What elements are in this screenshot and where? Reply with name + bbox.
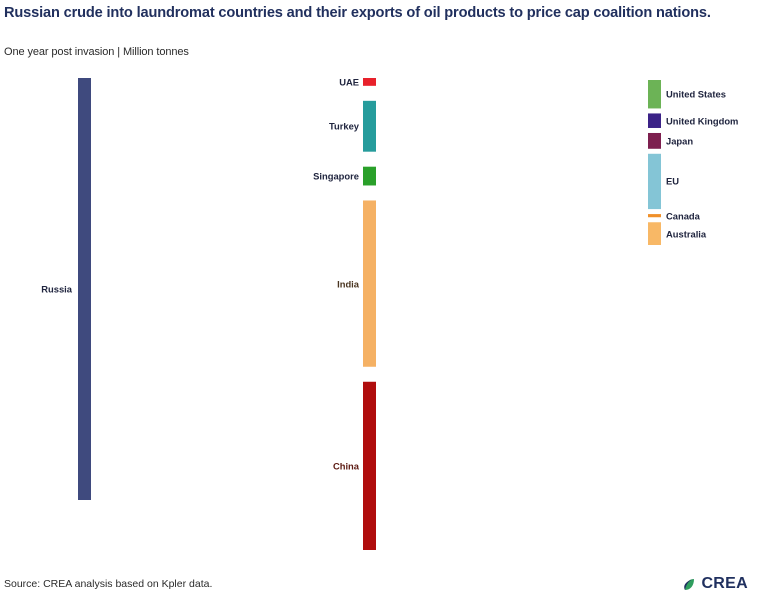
crea-logo: CREA [681,575,748,593]
crea-leaf-icon [681,577,696,592]
sankey-node-india[interactable] [363,200,376,366]
crea-wordmark: CREA [701,575,748,593]
sankey-node-uae[interactable] [363,78,376,86]
sankey-node-turkey[interactable] [363,101,376,152]
node-label-australia: Australia [666,228,706,239]
sankey-diagram: RussiaUAETurkeySingaporeIndiaChinaUnited… [0,66,770,566]
node-label-united_kingdom: United Kingdom [666,115,738,126]
sankey-svg [0,66,770,566]
sankey-node-singapore[interactable] [363,167,376,186]
node-label-eu: EU [666,176,679,187]
node-label-singapore: Singapore [0,171,359,182]
source-note: Source: CREA analysis based on Kpler dat… [4,578,212,590]
sankey-node-australia[interactable] [648,222,661,245]
sankey-node-united_kingdom[interactable] [648,113,661,128]
node-label-uae: UAE [0,76,359,87]
sankey-node-canada[interactable] [648,214,661,217]
node-label-china: China [0,460,359,471]
node-label-united_states: United States [666,89,726,100]
page-title: Russian crude into laundromat countries … [4,4,739,23]
node-label-india: India [0,278,359,289]
sankey-node-china[interactable] [363,382,376,550]
node-label-japan: Japan [666,135,693,146]
node-label-canada: Canada [666,210,700,221]
sankey-node-united_states[interactable] [648,80,661,108]
page-subtitle: One year post invasion | Million tonnes [4,46,189,58]
sankey-node-japan[interactable] [648,133,661,149]
sankey-node-eu[interactable] [648,154,661,209]
node-label-turkey: Turkey [0,121,359,132]
